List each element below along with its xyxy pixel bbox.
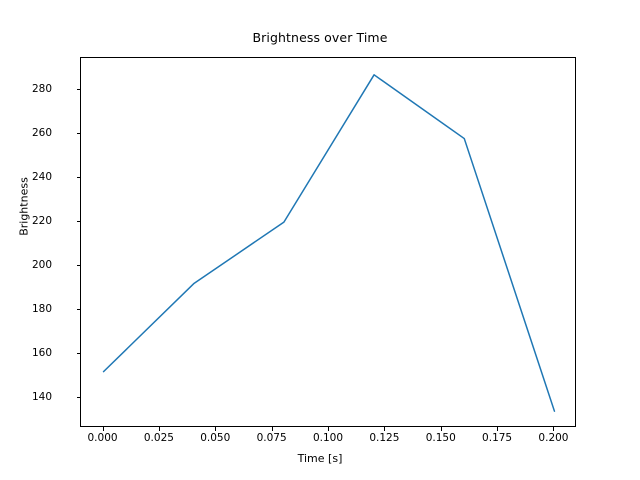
matplotlib-figure: Brightness over Time Brightness Time [s]… xyxy=(0,0,640,480)
plot-axes-frame xyxy=(80,57,576,427)
brightness-line-series xyxy=(104,75,555,411)
x-tick-label: 0.050 xyxy=(200,432,230,444)
y-tick-label: 180 xyxy=(32,303,52,315)
x-tick-label: 0.100 xyxy=(313,432,343,444)
chart-title: Brightness over Time xyxy=(0,30,640,45)
y-tick-label: 260 xyxy=(32,127,52,139)
x-axis-label: Time [s] xyxy=(0,452,640,465)
x-tick-label: 0.075 xyxy=(257,432,287,444)
y-tick-label: 140 xyxy=(32,391,52,403)
y-tick-label: 280 xyxy=(32,83,52,95)
y-tick-label: 220 xyxy=(32,215,52,227)
x-tick-label: 0.000 xyxy=(88,432,118,444)
x-tick-label: 0.175 xyxy=(482,432,512,444)
y-tick-label: 200 xyxy=(32,259,52,271)
x-tick-label: 0.025 xyxy=(144,432,174,444)
line-plot-svg xyxy=(81,58,577,428)
y-tick-label: 240 xyxy=(32,171,52,183)
x-tick-label: 0.125 xyxy=(369,432,399,444)
y-axis-label: Brightness xyxy=(18,107,31,307)
y-tick-label: 160 xyxy=(32,347,52,359)
x-tick-label: 0.200 xyxy=(538,432,568,444)
x-tick-label: 0.150 xyxy=(426,432,456,444)
